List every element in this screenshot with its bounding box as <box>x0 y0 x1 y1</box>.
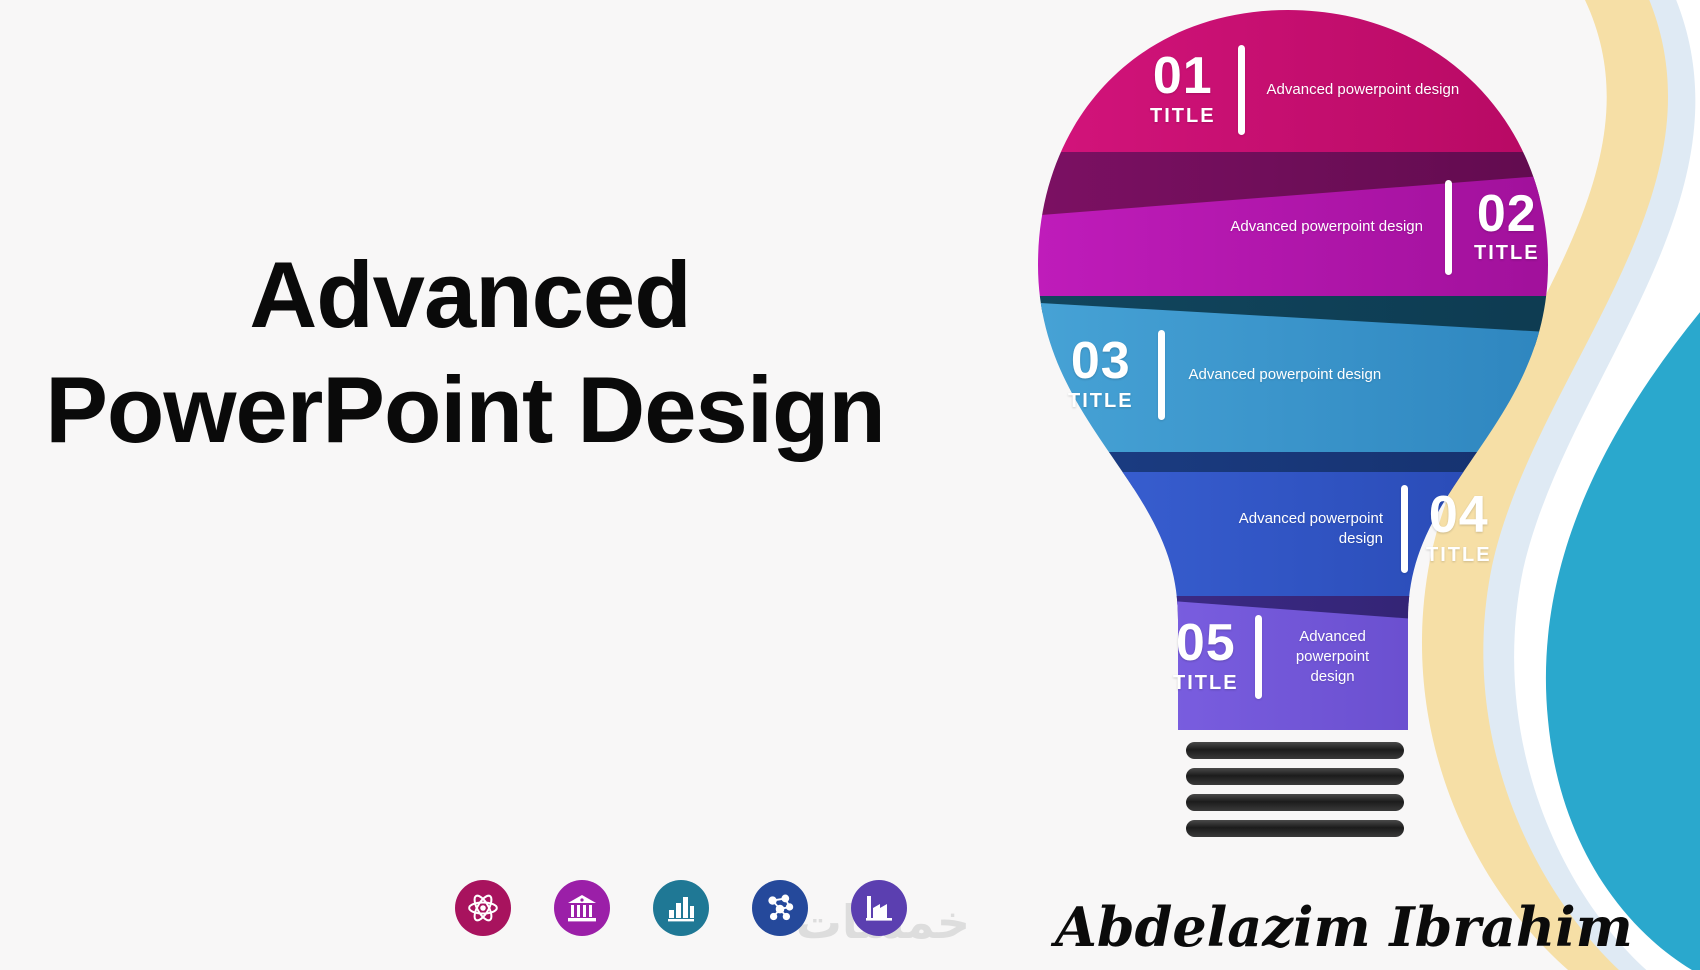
page-title: Advanced PowerPoint Design <box>0 238 930 467</box>
atom-icon[interactable] <box>455 880 511 936</box>
segment-1-shape <box>1018 0 1578 152</box>
base-ring <box>1186 742 1404 759</box>
segment-4-shape <box>1038 472 1578 606</box>
factory-icon[interactable] <box>851 880 907 936</box>
bank-icon[interactable] <box>554 880 610 936</box>
base-ring <box>1186 794 1404 811</box>
icon-row <box>455 880 907 936</box>
bulb-base-rings <box>1186 742 1404 837</box>
slide-canvas: Advanced PowerPoint Design <box>0 0 1700 970</box>
segment-5-shape <box>1158 600 1578 740</box>
base-ring <box>1186 820 1404 837</box>
lightbulb-infographic: 01 TITLE Advanced powerpoint design Adva… <box>1018 0 1578 860</box>
barchart-icon[interactable] <box>653 880 709 936</box>
author-signature: Abdelazim Ibrahim <box>1055 895 1633 959</box>
network-icon[interactable] <box>752 880 808 936</box>
base-ring <box>1186 768 1404 785</box>
title-line-1: Advanced <box>0 238 930 353</box>
title-line-2: PowerPoint Design <box>0 353 930 468</box>
